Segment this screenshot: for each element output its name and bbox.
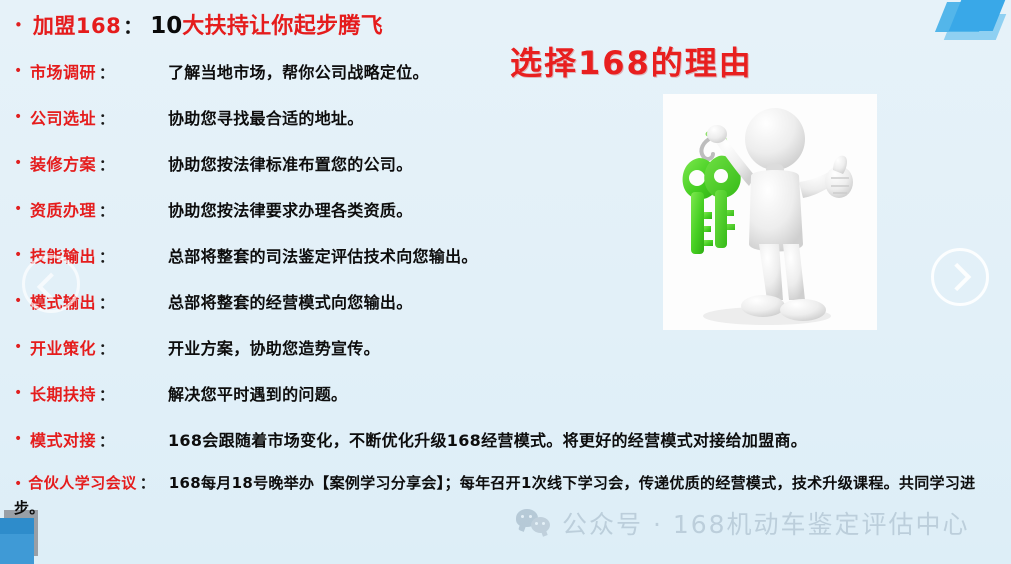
feature-colon: ： — [96, 62, 114, 83]
deco-shape-mid — [935, 2, 991, 32]
wechat-bubble-small — [531, 517, 550, 533]
feature-description: 总部将整套的经营模式向您输出。 — [168, 289, 413, 313]
feature-description: 协助您按法律要求办理各类资质。 — [168, 197, 413, 221]
headline-colon: ： — [121, 12, 144, 39]
headline: • 加盟168 ： 10 大扶持让你起步腾飞 — [14, 8, 383, 40]
feature-label-group: 资质办理 ： — [30, 197, 168, 221]
feature-row: • 开业策化 ： 开业方案，协助您造势宣传。 — [14, 335, 380, 359]
bullet-icon: • — [14, 432, 30, 446]
wechat-watermark: 公众号 · 168机动车鉴定评估中心 — [516, 505, 970, 541]
deco-square-highlight — [0, 534, 34, 564]
feature-row: • 装修方案 ： 协助您按法律标准布置您的公司。 — [14, 151, 413, 175]
feature-label: 资质办理 — [30, 197, 96, 221]
bullet-icon: • — [14, 18, 23, 33]
wechat-eye — [521, 515, 524, 518]
bullet-icon: • — [14, 386, 30, 400]
feature-description: 开业方案，协助您造势宣传。 — [168, 335, 380, 359]
bullet-icon: • — [14, 110, 30, 124]
feature-colon: ： — [96, 108, 114, 129]
top-right-parallelogram-decoration — [931, 0, 1011, 46]
feature-colon: ： — [96, 200, 114, 221]
wechat-eye — [529, 515, 532, 518]
wechat-icon — [516, 509, 550, 537]
deco-shape-back — [944, 14, 1007, 40]
bullet-icon: • — [14, 340, 30, 354]
headline-tagline: 大扶持让你起步腾飞 — [182, 8, 383, 40]
bullet-icon: • — [14, 64, 30, 78]
feature-description: 协助您寻找最合适的地址。 — [168, 105, 364, 129]
feature-label-group: 开业策化 ： — [30, 335, 168, 359]
feature-row: • 技能输出 ： 总部将整套的司法鉴定评估技术向您输出。 — [14, 243, 478, 267]
bullet-icon: • — [14, 156, 30, 170]
feature-label: 公司选址 — [30, 105, 96, 129]
feature-label: 合伙人学习会议 — [28, 474, 137, 492]
feature-label-group: 模式对接 ： — [30, 427, 168, 451]
wechat-eye — [542, 522, 545, 525]
feature-label: 模式对接 — [30, 427, 96, 451]
wechat-account-name: 公众号 · 168机动车鉴定评估中心 — [562, 505, 970, 541]
feature-colon: ： — [96, 384, 114, 405]
wechat-eye — [535, 522, 538, 525]
feature-description: 协助您按法律标准布置您的公司。 — [168, 151, 413, 175]
feature-colon: ： — [137, 474, 155, 492]
figure-with-keys-illustration — [663, 94, 877, 330]
feature-row: • 市场调研 ： 了解当地市场，帮你公司战略定位。 — [14, 59, 429, 83]
feature-label: 市场调研 — [30, 59, 96, 83]
slide-canvas: • 加盟168 ： 10 大扶持让你起步腾飞 选择168的理由 — [0, 0, 1011, 564]
feature-description: 总部将整套的司法鉴定评估技术向您输出。 — [168, 243, 478, 267]
chevron-right-icon — [943, 263, 971, 291]
next-slide-button[interactable] — [931, 248, 989, 306]
feature-row: • 公司选址 ： 协助您寻找最合适的地址。 — [14, 105, 364, 129]
deco-shape-front — [949, 0, 1006, 31]
headline-number: 10 — [144, 13, 182, 39]
feature-label: 长期扶持 — [30, 381, 96, 405]
bullet-icon: • — [14, 476, 22, 492]
feature-row: • 模式对接 ： 168会跟随着市场变化，不断优化升级168经营模式。将更好的经… — [14, 427, 807, 451]
feature-row: • 资质办理 ： 协助您按法律要求办理各类资质。 — [14, 197, 413, 221]
feature-row: • 长期扶持 ： 解决您平时遇到的问题。 — [14, 381, 347, 405]
prev-slide-button[interactable] — [22, 255, 80, 313]
deco-square — [0, 518, 34, 564]
feature-colon: ： — [96, 154, 114, 175]
feature-description: 解决您平时遇到的问题。 — [168, 381, 347, 405]
feature-colon: ： — [96, 246, 114, 267]
section-title: 选择168的理由 — [510, 38, 753, 84]
feature-label: 开业策化 — [30, 335, 96, 359]
feature-label-group: 公司选址 ： — [30, 105, 168, 129]
feature-colon: ： — [96, 338, 114, 359]
bullet-icon: • — [14, 202, 30, 216]
feature-label: 装修方案 — [30, 151, 96, 175]
bullet-icon: • — [14, 248, 30, 262]
headline-brand: 加盟168 — [33, 10, 121, 40]
feature-label-group: 装修方案 ： — [30, 151, 168, 175]
feature-description: 了解当地市场，帮你公司战略定位。 — [168, 59, 429, 83]
feature-description: 168会跟随着市场变化，不断优化升级168经营模式。将更好的经营模式对接给加盟商… — [168, 427, 807, 451]
feature-colon: ： — [96, 430, 114, 451]
feature-label-group: 长期扶持 ： — [30, 381, 168, 405]
hero-photo — [663, 94, 877, 330]
feature-label-group: 市场调研 ： — [30, 59, 168, 83]
feature-colon: ： — [96, 292, 114, 313]
chevron-left-icon — [37, 273, 65, 301]
